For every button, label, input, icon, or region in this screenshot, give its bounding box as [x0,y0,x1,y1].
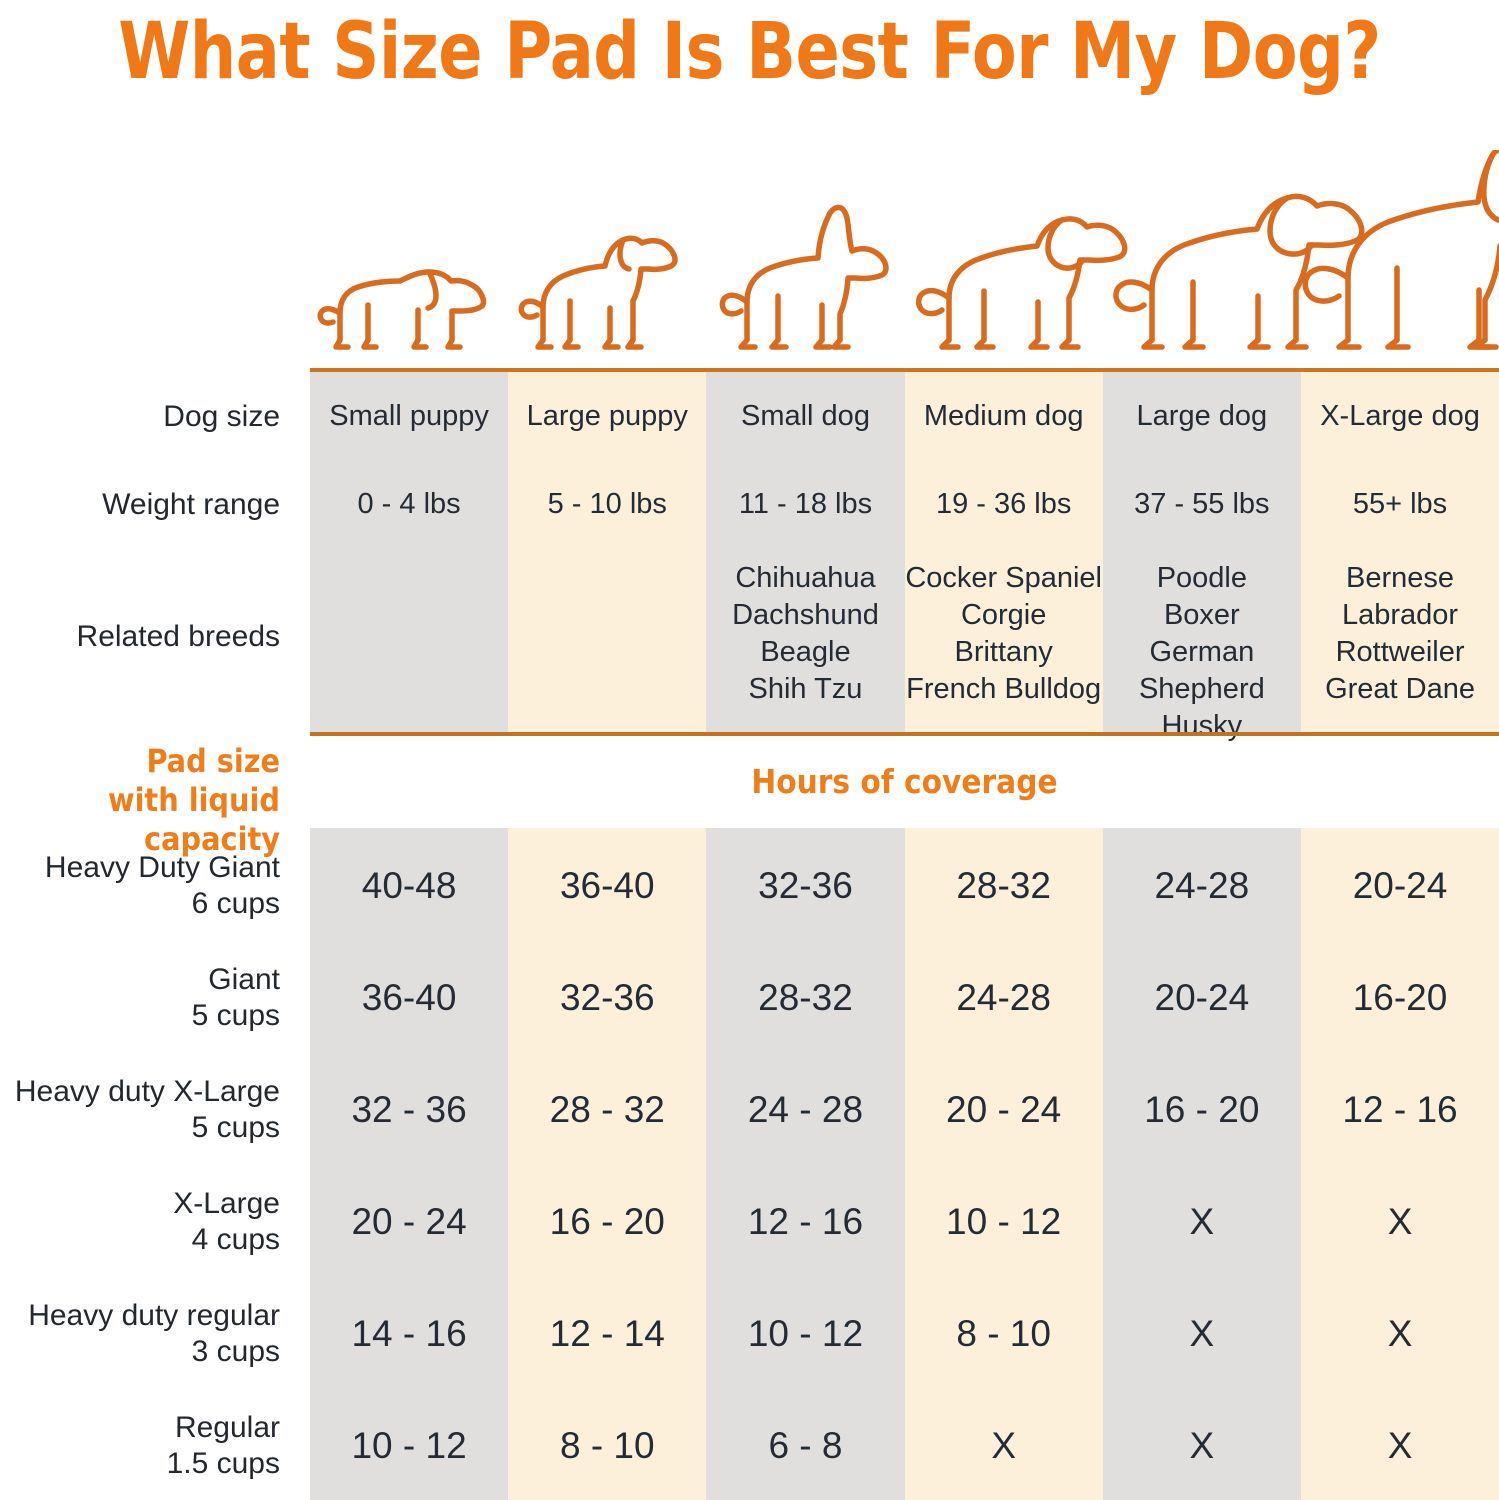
pad-size-row-label: X-Large4 cups [0,1186,310,1258]
coverage-cell-unavailable: X [1103,1424,1301,1468]
size-guide-infographic: What Size Pad Is Best For My Dog? [0,0,1499,1500]
table-row: Heavy duty X-Large5 cups32 - 3628 - 3224… [0,1054,1499,1166]
breed-name: Bernese [1301,560,1499,597]
coverage-cell: 32-36 [706,864,904,908]
pad-size-capacity: 5 cups [0,998,280,1034]
pad-size-capacity: 4 cups [0,1222,280,1258]
coverage-cell: 24-28 [1103,864,1301,908]
breed-name: Cocker Spaniel [905,560,1103,597]
pad-size-row-label: Heavy duty regular3 cups [0,1298,310,1370]
cell-dog-size-0: Small puppy [310,398,508,435]
coverage-cell-unavailable: X [1103,1312,1301,1356]
row-weight-range: Weight range 0 - 4 lbs 5 - 10 lbs 11 - 1… [0,480,1499,528]
pad-size-row-label: Heavy duty X-Large5 cups [0,1074,310,1146]
pad-size-name: Heavy duty regular [0,1298,280,1334]
cell-breeds-4: PoodleBoxerGermanShepherdHusky [1103,560,1301,745]
coverage-cell: 14 - 16 [310,1312,508,1356]
breed-name: Chihuahua [706,560,904,597]
breed-name: Labrador [1301,597,1499,634]
coverage-cell: 36-40 [508,864,706,908]
breed-name: Beagle [706,634,904,671]
coverage-cell: 32 - 36 [310,1088,508,1132]
pad-size-name: Regular [0,1410,280,1446]
row-label-weight-range: Weight range [0,486,310,523]
coverage-cell: 12 - 14 [508,1312,706,1356]
breed-name: Rottweiler [1301,634,1499,671]
coverage-cell: 32-36 [508,976,706,1020]
coverage-cell: 16-20 [1301,976,1499,1020]
coverage-cell: 36-40 [310,976,508,1020]
cell-dog-size-5: X-Large dog [1301,398,1499,435]
cell-dog-size-2: Small dog [706,398,904,435]
cell-breeds-3: Cocker SpanielCorgieBrittanyFrench Bulld… [905,560,1103,708]
ground-rule [310,368,1499,372]
coverage-cell: 8 - 10 [508,1424,706,1468]
pad-size-name: Giant [0,962,280,998]
row-label-dog-size: Dog size [0,398,310,435]
coverage-cell: 40-48 [310,864,508,908]
row-dog-size: Dog size Small puppy Large puppy Small d… [0,392,1499,440]
section-divider-rule [310,732,1499,736]
breed-name: Husky [1103,708,1301,745]
dog-silhouettes-row [300,150,1499,375]
coverage-cell: 28-32 [706,976,904,1020]
coverage-cell: 12 - 16 [706,1200,904,1244]
x-large-dog-icon [1305,150,1499,347]
large-dog-icon [1116,196,1362,347]
pad-size-name: X-Large [0,1186,280,1222]
breed-name: Brittany [905,634,1103,671]
pad-size-name: Heavy duty X-Large [0,1074,280,1110]
coverage-cell: 10 - 12 [310,1424,508,1468]
pad-size-line-1: Pad size [0,742,280,781]
pad-size-capacity: 5 cups [0,1110,280,1146]
coverage-cell: 6 - 8 [706,1424,904,1468]
breed-name: Poodle [1103,560,1301,597]
coverage-cell: 16 - 20 [508,1200,706,1244]
coverage-cell: 20 - 24 [905,1088,1103,1132]
breed-name: French Bulldog [905,671,1103,708]
coverage-cell: 10 - 12 [905,1200,1103,1244]
row-related-breeds: Related breeds ChihuahuaDachshundBeagleS… [0,560,1499,730]
coverage-cell-unavailable: X [1301,1424,1499,1468]
coverage-cell: 16 - 20 [1103,1088,1301,1132]
large-puppy-icon [521,238,675,347]
coverage-cell-unavailable: X [905,1424,1103,1468]
coverage-cell: 20 - 24 [310,1200,508,1244]
breed-name: Boxer [1103,597,1301,634]
small-dog-icon [722,207,886,347]
cell-weight-1: 5 - 10 lbs [508,486,706,523]
breed-name: Dachshund [706,597,904,634]
coverage-cell-unavailable: X [1301,1312,1499,1356]
pad-size-row-label: Regular1.5 cups [0,1410,310,1482]
cell-weight-2: 11 - 18 lbs [706,486,904,523]
coverage-cell-unavailable: X [1301,1200,1499,1244]
table-row: Regular1.5 cups10 - 128 - 106 - 8XXX [0,1390,1499,1500]
row-label-related-breeds: Related breeds [0,560,310,655]
breed-name: Shih Tzu [706,671,904,708]
coverage-cell: 20-24 [1103,976,1301,1020]
cell-weight-0: 0 - 4 lbs [310,486,508,523]
table-row: Heavy Duty Giant6 cups40-4836-4032-3628-… [0,830,1499,942]
coverage-cell: 24-28 [905,976,1103,1020]
small-puppy-icon [320,272,483,347]
page-title: What Size Pad Is Best For My Dog? [52,6,1446,98]
coverage-cell-unavailable: X [1103,1200,1301,1244]
pad-size-capacity: 6 cups [0,886,280,922]
coverage-cell: 28-32 [905,864,1103,908]
cell-weight-4: 37 - 55 lbs [1103,486,1301,523]
hours-of-coverage-label: Hours of coverage [310,762,1499,802]
pad-size-row-label: Heavy Duty Giant6 cups [0,850,310,922]
cell-breeds-2: ChihuahuaDachshundBeagleShih Tzu [706,560,904,708]
pad-size-capacity: 1.5 cups [0,1446,280,1482]
coverage-cell: 10 - 12 [706,1312,904,1356]
pad-size-name: Heavy Duty Giant [0,850,280,886]
pad-size-row-label: Giant5 cups [0,962,310,1034]
cell-dog-size-3: Medium dog [905,398,1103,435]
cell-dog-size-4: Large dog [1103,398,1301,435]
cell-weight-5: 55+ lbs [1301,486,1499,523]
cell-breeds-5: BerneseLabradorRottweilerGreat Dane [1301,560,1499,708]
coverage-cell: 12 - 16 [1301,1088,1499,1132]
breed-name: Great Dane [1301,671,1499,708]
table-row: Heavy duty regular3 cups14 - 1612 - 1410… [0,1278,1499,1390]
coverage-cell: 20-24 [1301,864,1499,908]
coverage-cell: 24 - 28 [706,1088,904,1132]
medium-dog-icon [919,219,1125,347]
breed-name: Corgie [905,597,1103,634]
cell-weight-3: 19 - 36 lbs [905,486,1103,523]
breed-name: Shepherd [1103,671,1301,708]
table-row: X-Large4 cups20 - 2416 - 2012 - 1610 - 1… [0,1166,1499,1278]
pad-size-capacity: 3 cups [0,1334,280,1370]
breed-name: German [1103,634,1301,671]
coverage-cell: 8 - 10 [905,1312,1103,1356]
coverage-cell: 28 - 32 [508,1088,706,1132]
table-row: Giant5 cups36-4032-3628-3224-2820-2416-2… [0,942,1499,1054]
cell-dog-size-1: Large puppy [508,398,706,435]
